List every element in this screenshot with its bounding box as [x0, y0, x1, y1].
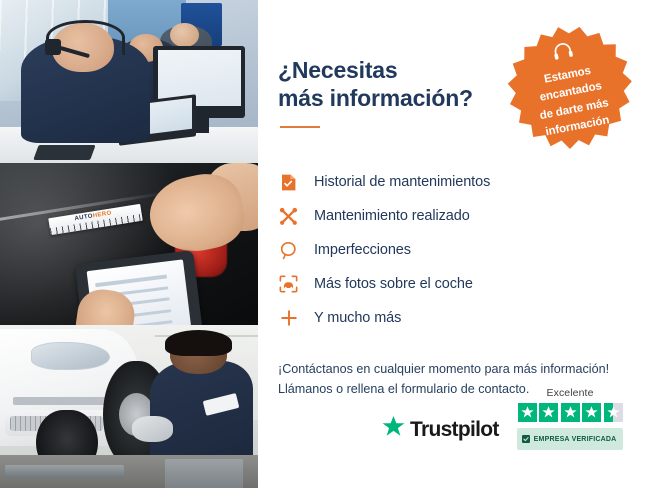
trustpilot-rating-block[interactable]: Trustpilot Excelente — [382, 387, 623, 450]
photo-technician-inspecting-wheel — [0, 325, 258, 488]
headset-earcup — [45, 39, 60, 55]
trustpilot-logo[interactable]: Trustpilot — [382, 416, 499, 450]
verified-badge-label: EMPRESA VERIFICADA — [534, 436, 617, 443]
promo-badge: Estamos encantados de darte más informac… — [497, 15, 642, 160]
paragraph-line-1: ¡Contáctanos en cualquier momento para m… — [278, 359, 628, 379]
trustpilot-stars — [518, 403, 623, 422]
feature-item-maintenance-history: Historial de mantenimientos — [278, 165, 628, 199]
feature-label: Mantenimiento realizado — [314, 208, 470, 224]
magnifier-icon — [278, 240, 299, 261]
verified-check-icon — [522, 430, 530, 448]
trustpilot-score: Excelente — [517, 387, 624, 450]
star-filled — [561, 403, 580, 422]
star-filled — [539, 403, 558, 422]
photo-autohero-ruler-measuring-car-body: AUTOHERO — [0, 163, 258, 326]
feature-item-much-more: Y mucho más — [278, 301, 628, 335]
headline-line-1: ¿Necesitas — [278, 57, 397, 83]
star-filled — [582, 403, 601, 422]
wrench-screwdriver-icon — [278, 206, 299, 227]
car-photo-frame-icon — [278, 274, 299, 295]
feature-label: Imperfecciones — [314, 242, 411, 258]
tablet-screen-row — [96, 275, 168, 287]
photo-call-center-agents-with-headsets — [0, 0, 258, 163]
car-lift-arm — [5, 465, 124, 478]
verified-company-badge: EMPRESA VERIFICADA — [517, 428, 624, 450]
trustpilot-rating-label: Excelente — [547, 387, 594, 399]
feature-list: Historial de mantenimientos M — [278, 165, 628, 335]
desk-tablet — [33, 145, 95, 160]
page-title: ¿Necesitas más información? — [278, 56, 513, 112]
star-filled — [518, 403, 537, 422]
feature-label: Más fotos sobre el coche — [314, 276, 473, 292]
technician-hair — [165, 330, 232, 356]
headset-icon — [551, 41, 575, 66]
feature-item-imperfections: Imperfecciones — [278, 233, 628, 267]
car-grille-bar — [13, 397, 116, 405]
trustpilot-star-icon — [382, 416, 405, 443]
headline-line-2: más información? — [278, 85, 473, 111]
feature-item-more-photos: Más fotos sobre el coche — [278, 267, 628, 301]
photo-collage: AUTOHERO — [0, 0, 258, 488]
checklist-document-icon — [278, 172, 299, 193]
plus-icon — [278, 308, 299, 329]
title-underline-rule — [280, 126, 320, 128]
star-half — [604, 403, 623, 422]
tool-cabinet — [165, 459, 242, 488]
info-promo-poster: AUTOHERO — [0, 0, 650, 488]
feature-label: Y mucho más — [314, 310, 401, 326]
background-agent-head — [170, 23, 198, 47]
feature-item-maintenance-done: Mantenimiento realizado — [278, 199, 628, 233]
content-panel: ¿Necesitas más información? Estamos enca… — [258, 0, 650, 488]
technician-glove — [132, 416, 173, 442]
feature-label: Historial de mantenimientos — [314, 174, 490, 190]
trustpilot-wordmark: Trustpilot — [410, 418, 499, 442]
